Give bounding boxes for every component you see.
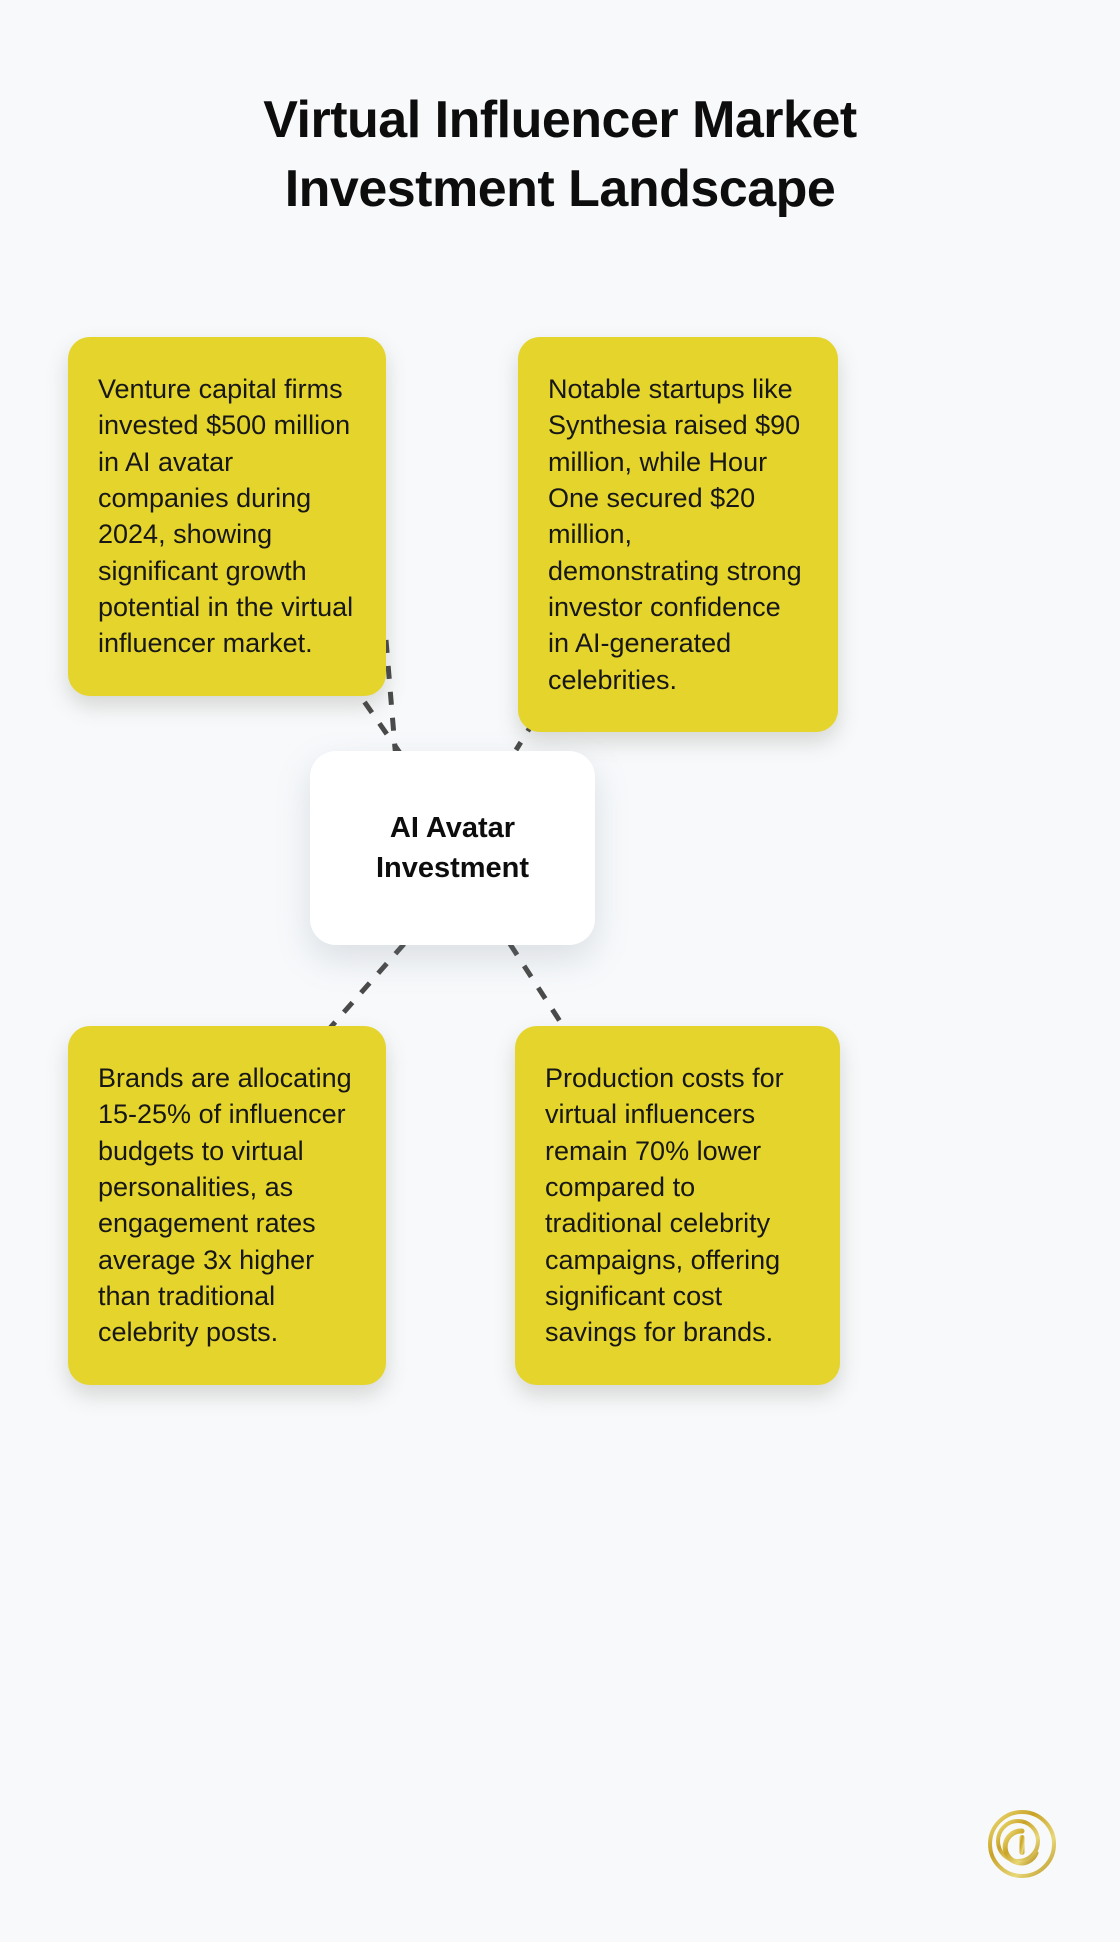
insight-card-top-left[interactable]: Venture capital firms invested $500 mill… bbox=[68, 337, 386, 696]
insight-card-text: Venture capital firms invested $500 mill… bbox=[98, 374, 353, 658]
center-node[interactable]: AI Avatar Investment bbox=[310, 751, 595, 945]
brand-logo-icon bbox=[985, 1807, 1059, 1881]
page-title-line-1: Virtual Influencer Market bbox=[110, 86, 1010, 155]
insight-card-text: Production costs for virtual influencers… bbox=[545, 1063, 784, 1347]
insight-card-text: Brands are allocating 15-25% of influenc… bbox=[98, 1063, 352, 1347]
page-title: Virtual Influencer Market Investment Lan… bbox=[110, 86, 1010, 224]
page-title-line-2: Investment Landscape bbox=[110, 155, 1010, 224]
center-node-label: AI Avatar Investment bbox=[376, 808, 529, 888]
connector-lines bbox=[0, 0, 1120, 1942]
connector-top-left bbox=[386, 640, 396, 760]
insight-card-bottom-right[interactable]: Production costs for virtual influencers… bbox=[515, 1026, 840, 1385]
center-node-line-1: AI Avatar bbox=[390, 812, 515, 844]
connector-bottom-left bbox=[330, 944, 404, 1028]
center-node-line-2: Investment bbox=[376, 852, 529, 884]
connector-bottom-right bbox=[510, 944, 563, 1026]
insight-card-text: Notable startups like Synthesia raised $… bbox=[548, 374, 802, 695]
insight-card-top-right[interactable]: Notable startups like Synthesia raised $… bbox=[518, 337, 838, 732]
infographic-canvas: Virtual Influencer Market Investment Lan… bbox=[0, 0, 1120, 1942]
insight-card-bottom-left[interactable]: Brands are allocating 15-25% of influenc… bbox=[68, 1026, 386, 1385]
